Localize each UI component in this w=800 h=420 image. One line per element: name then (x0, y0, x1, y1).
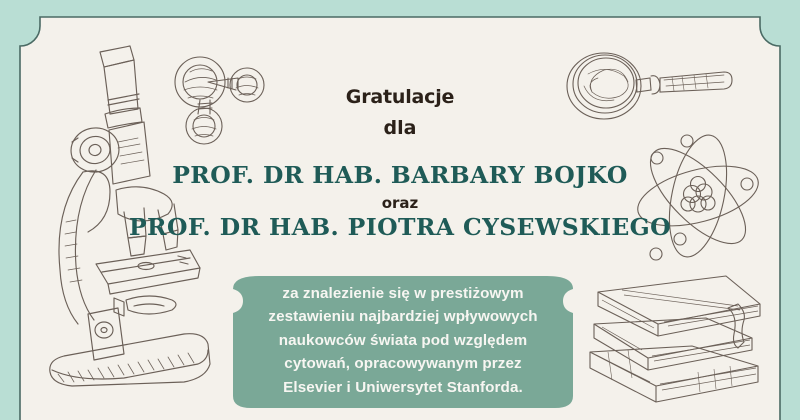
page-subtitle: dla (0, 117, 800, 139)
conjunction-label: oraz (0, 194, 800, 212)
callout-line-3: naukowców świata pod względem (233, 329, 573, 352)
callout-line-4: cytowań, opracowywanym przez (233, 352, 573, 375)
honoree-name-first: PROF. DR HAB. BARBARY BOJKO (0, 161, 800, 189)
honoree-name-second: PROF. DR HAB. PIOTRA CYSEWSKIEGO (0, 213, 800, 241)
achievement-callout: za znalezienie się w prestiżowym zestawi… (233, 276, 573, 408)
poster-text-content: Gratulacje dla PROF. DR HAB. BARBARY BOJ… (0, 0, 800, 420)
congratulations-poster: Gratulacje dla PROF. DR HAB. BARBARY BOJ… (0, 0, 800, 420)
callout-line-1: za znalezienie się w prestiżowym (233, 282, 573, 305)
callout-line-2: zestawieniu najbardziej wpływowych (233, 305, 573, 328)
page-title: Gratulacje (0, 86, 800, 108)
callout-text-block: za znalezienie się w prestiżowym zestawi… (233, 282, 573, 399)
callout-line-5: Elsevier i Uniwersytet Stanforda. (233, 376, 573, 399)
